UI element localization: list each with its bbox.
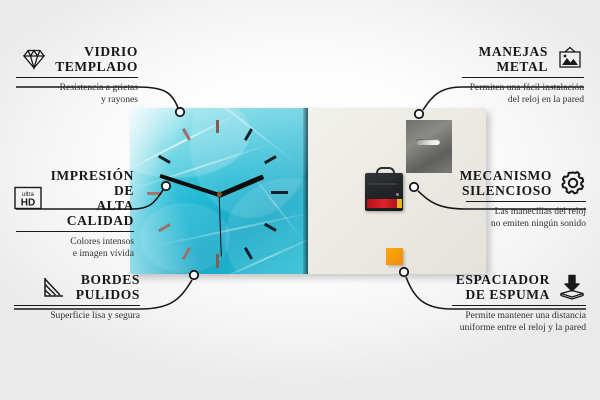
feature-rule	[16, 77, 138, 78]
feature-title-line1: MECANISMO	[460, 168, 552, 183]
feature-desc-line2: e imagen vívida	[16, 248, 134, 260]
metal-hanger-plate	[406, 120, 452, 173]
clock-center-cap	[217, 192, 222, 197]
feature-desc-line1: Colores intensos	[16, 236, 134, 248]
clock-tick	[216, 120, 219, 133]
mechanism-indicator	[396, 193, 399, 196]
arrow-down-pad-icon	[558, 274, 586, 300]
feature-title-line2: METAL	[479, 59, 548, 74]
feature-manejas-metal: MANEJAS METAL Permiten una fácil instala…	[462, 44, 584, 105]
feature-title-line1: ESPACIADOR	[456, 272, 550, 287]
feature-desc-line1: Resistencia a grietas	[16, 82, 138, 94]
feature-bordes-pulidos: BORDES PULIDOS Superficie lisa y segura	[14, 272, 140, 322]
battery-compartment	[367, 199, 399, 208]
clock-front-panel	[130, 108, 308, 274]
feature-title-line1: VIDRIO	[55, 44, 138, 59]
feature-desc-line2: no emiten ningún sonido	[466, 218, 586, 230]
feature-rule	[466, 201, 586, 202]
feature-rule	[14, 305, 140, 306]
feature-title-line1: BORDES	[76, 272, 140, 287]
diamond-icon	[21, 47, 47, 71]
mechanism-seam	[369, 183, 397, 185]
infographic-canvas: VIDRIO TEMPLADO Resistencia a grietas y …	[0, 0, 600, 400]
feature-title-line2: SILENCIOSO	[460, 183, 552, 198]
clock-tick	[271, 191, 288, 194]
feature-desc-line1: Permite mantener una distancia	[452, 310, 586, 322]
foam-spacer-block	[386, 248, 403, 265]
svg-text:HD: HD	[20, 198, 34, 209]
hanger-slot	[416, 139, 440, 145]
feature-vidrio-templado: VIDRIO TEMPLADO Resistencia a grietas y …	[16, 44, 138, 105]
gear-icon	[560, 170, 586, 196]
clock-mechanism-box	[365, 173, 403, 211]
feature-desc-line2: del reloj en la pared	[462, 94, 584, 106]
clock-tick	[216, 254, 219, 268]
feature-desc-line1: Permiten una fácil instalación	[462, 82, 584, 94]
feature-title-line1: MANEJAS	[479, 44, 548, 59]
feature-rule	[16, 231, 134, 232]
feature-rule	[452, 305, 586, 306]
feature-mecanismo-silencioso: MECANISMO SILENCIOSO Las manecillas del …	[466, 168, 586, 229]
feature-title-line1: IMPRESIÓN DE	[51, 168, 134, 198]
feature-desc-line2: uniforme entre el reloj y la pared	[452, 322, 586, 334]
feature-rule	[462, 77, 584, 78]
feature-desc-line1: Superficie lisa y segura	[14, 310, 140, 322]
feature-title-line2: ALTA CALIDAD	[51, 198, 134, 228]
feature-title-line2: PULIDOS	[76, 287, 140, 302]
mechanism-hanger-loop	[376, 167, 395, 178]
feature-desc-line2: y rayones	[16, 94, 138, 106]
feature-title-line2: DE ESPUMA	[456, 287, 550, 302]
feature-title-line2: TEMPLADO	[55, 59, 138, 74]
feature-espaciador-espuma: ESPACIADOR DE ESPUMA Permite mantener un…	[452, 272, 586, 333]
polished-edges-icon	[42, 275, 68, 299]
clock-tick	[147, 192, 162, 195]
feature-desc-line1: Las manecillas del reloj	[466, 206, 586, 218]
battery-terminal	[397, 199, 402, 208]
feature-impresion-alta-calidad: ultra HD IMPRESIÓN DE ALTA CALIDAD Color…	[16, 168, 134, 259]
wall-frame-icon	[556, 46, 584, 72]
ultra-hd-icon: ultra HD	[13, 185, 43, 211]
